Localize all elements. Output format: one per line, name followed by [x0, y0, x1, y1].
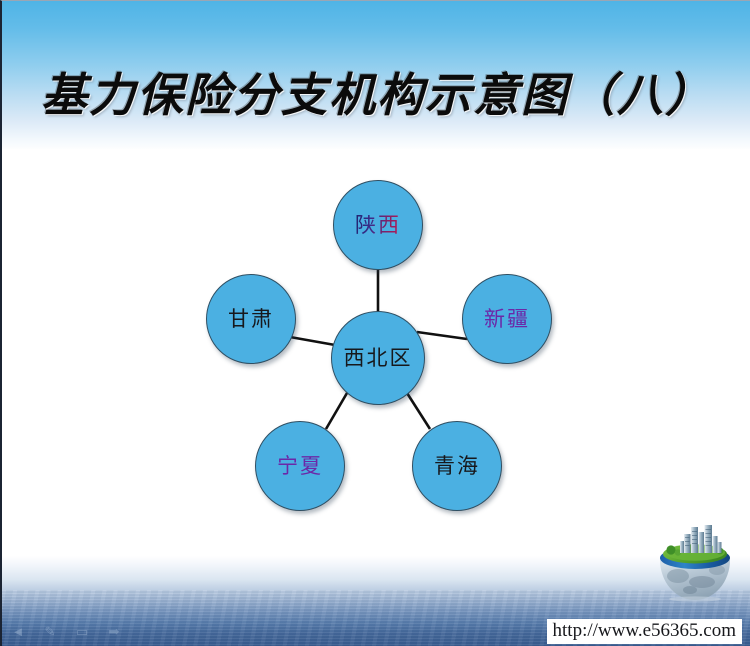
diagram-node-label: 宁夏 — [277, 456, 323, 477]
diagram-node-center-northwest-region[interactable]: 西北区 — [331, 311, 425, 405]
diagram-node-label: 新疆 — [484, 309, 530, 330]
diagram-node-label: 西北区 — [344, 348, 413, 369]
next-slide-icon[interactable]: ➡ — [106, 624, 122, 638]
earth-city-globe-logo — [654, 524, 736, 602]
previous-slide-icon[interactable]: ◄ — [10, 624, 26, 638]
diagram-node-xinjiang[interactable]: 新疆 — [462, 274, 552, 364]
globe-reflection — [669, 596, 721, 601]
diagram-node-gansu[interactable]: 甘肃 — [206, 274, 296, 364]
pen-tool-icon[interactable]: ✎ — [42, 624, 58, 638]
screen-menu-icon[interactable]: ▭ — [74, 624, 90, 638]
diagram-node-shaanxi[interactable]: 陕西 — [333, 180, 423, 270]
slide-title: 基力保险分支机构示意图（八） — [2, 59, 750, 125]
city-skyline — [680, 525, 722, 553]
diagram-node-label: 青海 — [434, 456, 480, 477]
diagram-node-label: 陕西 — [355, 215, 401, 236]
globe-logo-svg — [654, 524, 736, 602]
tree-icon — [666, 545, 675, 554]
diagram-node-label: 甘肃 — [228, 309, 274, 330]
presentation-slide: 基力保险分支机构示意图（八） 陕西 新疆 青海 宁夏 甘肃 西北区 — [0, 0, 750, 646]
slideshow-controls[interactable]: ◄ ✎ ▭ ➡ — [10, 624, 122, 638]
diagram-node-qinghai[interactable]: 青海 — [412, 421, 502, 511]
diagram-node-ningxia[interactable]: 宁夏 — [255, 421, 345, 511]
website-url[interactable]: http://www.e56365.com — [547, 619, 742, 644]
